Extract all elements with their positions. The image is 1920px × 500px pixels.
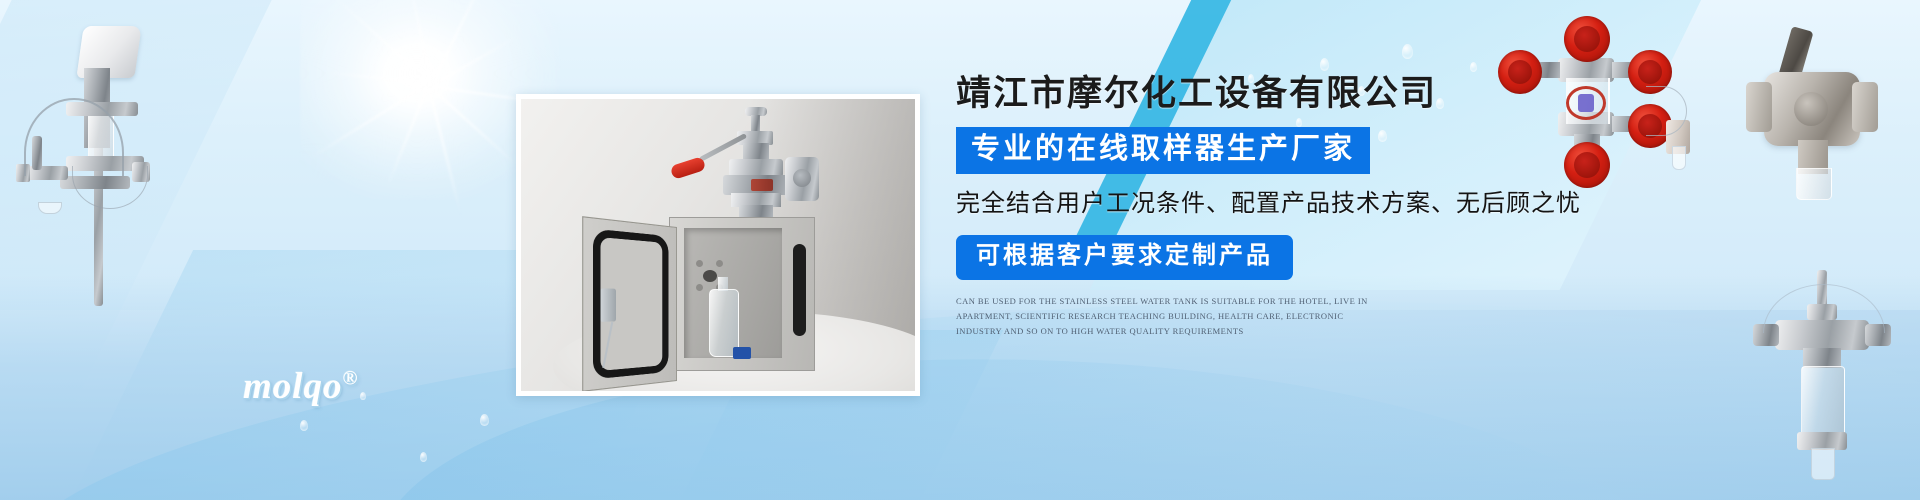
product-image-inline-sampler — [1745, 270, 1905, 485]
product-image-cross-manifold — [1470, 28, 1700, 168]
water-droplet — [300, 420, 308, 431]
photo-cabinet-handle — [793, 244, 806, 336]
brand-logo-text: molqo — [243, 366, 343, 407]
product-photo-sampling-cabinet — [521, 99, 915, 391]
water-droplet — [1320, 58, 1329, 71]
product-image-left-sampler — [8, 16, 188, 306]
brand-logo: molqo® — [243, 365, 359, 408]
red-handwheel — [1564, 16, 1610, 62]
custom-product-cta[interactable]: 可根据客户要求定制产品 — [956, 235, 1293, 280]
red-handwheel — [1498, 50, 1542, 94]
water-droplet — [420, 452, 427, 462]
company-seal-emblem — [1566, 86, 1606, 120]
red-handwheel — [1564, 142, 1610, 188]
photo-door-lock — [600, 288, 615, 321]
photo-valve-assembly — [689, 107, 825, 225]
english-caption: CAN BE USED FOR THE STAINLESS STEEL WATE… — [956, 294, 1374, 339]
water-droplet — [1402, 44, 1413, 59]
product-photo-frame — [516, 94, 920, 396]
sub-headline: 完全结合用户工况条件、配置产品技术方案、无后顾之忧 — [956, 189, 1596, 219]
headline-highlight-bar: 专业的在线取样器生产厂家 — [956, 127, 1370, 174]
photo-cabinet-door — [582, 216, 677, 391]
water-droplet — [480, 414, 489, 426]
registered-mark-icon: ® — [343, 368, 359, 390]
photo-blue-cap — [733, 347, 751, 359]
product-image-lever-valve — [1740, 20, 1915, 205]
water-droplet — [360, 392, 366, 400]
promo-banner: 靖江市摩尔化工设备有限公司 专业的在线取样器生产厂家 完全结合用户工况条件、配置… — [0, 0, 1920, 500]
